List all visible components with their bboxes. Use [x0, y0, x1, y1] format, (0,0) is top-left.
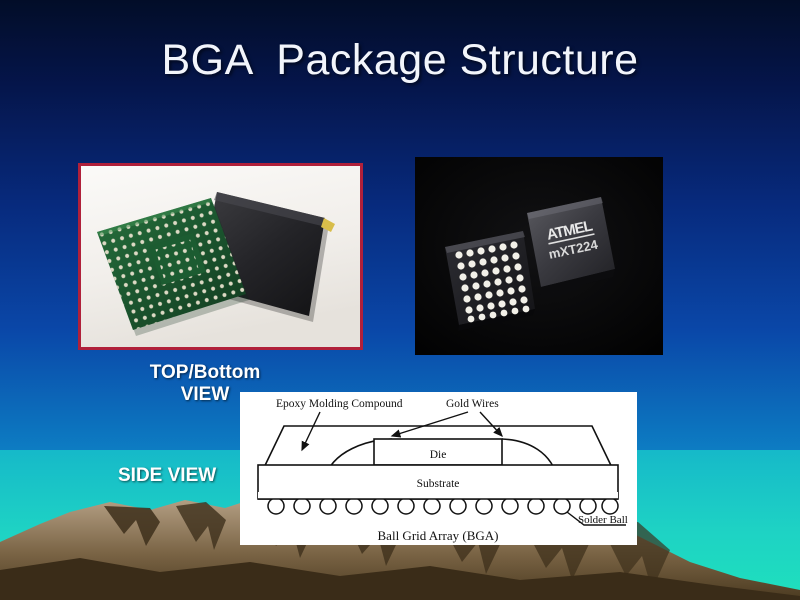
annotation-solder-ball: Solder Ball — [578, 514, 628, 526]
chip-ball-side — [445, 231, 535, 331]
diagram-caption: Ball Grid Array (BGA) — [378, 528, 499, 543]
atmel-chip-photo-image: ATMEL mXT224 — [415, 157, 663, 355]
annotation-gold-wires: Gold Wires — [446, 398, 499, 410]
side-view-label: SIDE VIEW — [118, 465, 216, 487]
bga-cross-section-svg: Epoxy Molding Compound Gold Wires Die — [240, 392, 637, 545]
annotation-substrate: Substrate — [417, 478, 460, 490]
top-bottom-view-label-line1: TOP/Bottom — [110, 362, 300, 384]
top-bottom-view-photo — [78, 163, 363, 350]
annotation-epoxy-molding-compound: Epoxy Molding Compound — [276, 398, 403, 410]
annotation-die: Die — [430, 449, 447, 461]
bga-side-view-diagram: Epoxy Molding Compound Gold Wires Die — [240, 392, 637, 545]
bga-package-photo-image — [81, 166, 360, 347]
atmel-chip-photo: ATMEL mXT224 — [415, 157, 663, 355]
slide-canvas: BGA Package Structure — [0, 0, 800, 600]
page-title: BGA Package Structure — [0, 36, 800, 85]
